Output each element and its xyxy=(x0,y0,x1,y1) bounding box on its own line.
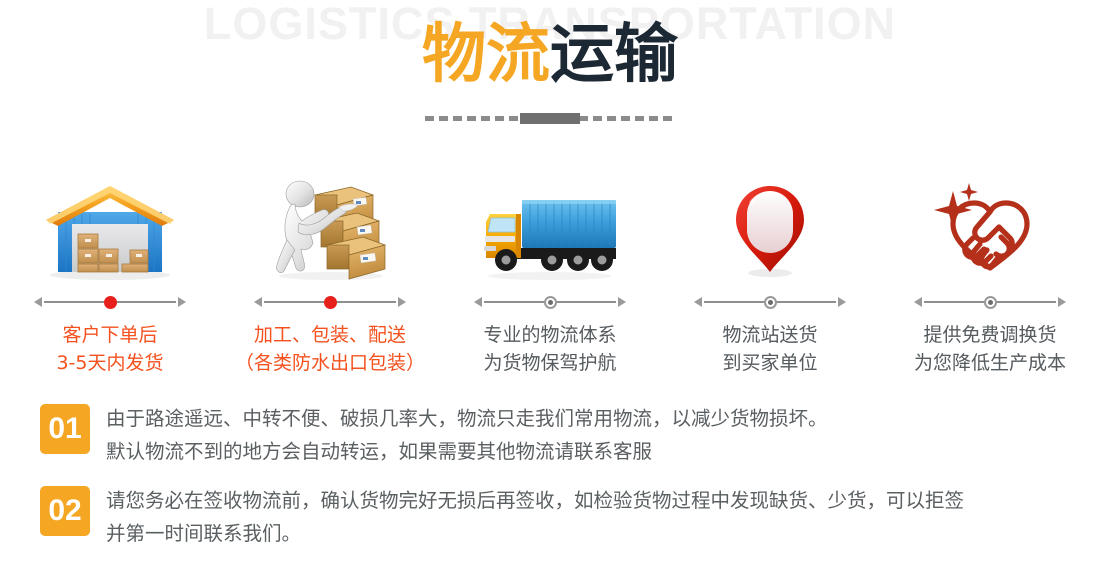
slider-knob xyxy=(104,296,117,309)
feature-caption-line: 加工、包装、配送 xyxy=(235,322,425,350)
note-body: 请您务必在签收物流前，确认货物完好无损后再签收，如检验货物过程中发现缺货、少货，… xyxy=(106,486,964,552)
page-title-highlight: 物流 xyxy=(422,18,550,90)
step-slider xyxy=(34,294,186,310)
feature-item-warehouse[interactable]: 客户下单后 3-5天内发货 xyxy=(0,175,220,377)
divider-block xyxy=(520,113,580,124)
step-slider xyxy=(254,294,406,310)
notes-section: 01 由于路途遥远、中转不便、破损几率大，物流只走我们常用物流，以减少货物损坏。… xyxy=(40,404,1070,569)
note-item: 02 请您务必在签收物流前，确认货物完好无损后再签收，如检验货物过程中发现缺货、… xyxy=(40,486,1070,552)
slider-arrow-right xyxy=(838,297,846,307)
slider-arrow-left xyxy=(914,297,922,307)
feature-caption: 物流站送货 到买家单位 xyxy=(722,322,817,377)
note-line: 默认物流不到的地方会自动转运，如果需要其他物流请联系客服 xyxy=(106,438,828,466)
warehouse-icon xyxy=(44,175,176,280)
slider-knob xyxy=(984,296,997,309)
slider-arrow-left xyxy=(474,297,482,307)
feature-caption: 客户下单后 3-5天内发货 xyxy=(56,322,163,377)
note-item: 01 由于路途遥远、中转不便、破损几率大，物流只走我们常用物流，以减少货物损坏。… xyxy=(40,404,1070,470)
page-title: 物流运输 xyxy=(0,22,1100,86)
title-divider xyxy=(0,113,1100,123)
feature-caption-line: 客户下单后 xyxy=(56,322,163,350)
note-body: 由于路途遥远、中转不便、破损几率大，物流只走我们常用物流，以减少货物损坏。 默认… xyxy=(106,404,828,470)
feature-caption-line: 物流站送货 xyxy=(722,322,817,350)
page-title-rest: 运输 xyxy=(550,18,678,90)
feature-item-delivery[interactable]: 物流站送货 到买家单位 xyxy=(660,175,880,377)
worker-pushing-boxes-icon xyxy=(265,175,395,280)
feature-caption-line: 为您降低生产成本 xyxy=(914,350,1066,378)
map-pin-icon xyxy=(727,175,813,280)
slider-arrow-right xyxy=(618,297,626,307)
feature-item-exchange[interactable]: 提供免费调换货 为您降低生产成本 xyxy=(880,175,1100,377)
feature-caption-line: 到买家单位 xyxy=(722,350,817,378)
step-slider xyxy=(474,294,626,310)
step-slider xyxy=(914,294,1066,310)
feature-caption-line: 3-5天内发货 xyxy=(56,350,163,378)
container-truck-icon xyxy=(480,175,620,280)
feature-item-transport[interactable]: 专业的物流体系 为货物保驾护航 xyxy=(440,175,660,377)
feature-caption: 提供免费调换货 为您降低生产成本 xyxy=(914,322,1066,377)
note-line: 并第一时间联系我们。 xyxy=(106,520,964,548)
feature-item-packaging[interactable]: 加工、包装、配送 （各类防水出口包装） xyxy=(220,175,440,377)
feature-caption-line: 为货物保驾护航 xyxy=(483,350,616,378)
handshake-heart-icon xyxy=(931,175,1049,280)
slider-arrow-left xyxy=(34,297,42,307)
slider-knob xyxy=(544,296,557,309)
note-line: 请您务必在签收物流前，确认货物完好无损后再签收，如检验货物过程中发现缺货、少货，… xyxy=(106,487,964,515)
step-slider xyxy=(694,294,846,310)
feature-caption: 专业的物流体系 为货物保驾护航 xyxy=(483,322,616,377)
feature-caption-line: 专业的物流体系 xyxy=(483,322,616,350)
page-header: LOGISTICS TRANSPORTATION 物流运输 xyxy=(0,0,1100,140)
slider-knob xyxy=(324,296,337,309)
logistics-transportation-banner: LOGISTICS TRANSPORTATION 物流运输 xyxy=(0,0,1100,567)
note-number-badge: 01 xyxy=(40,404,90,454)
feature-caption: 加工、包装、配送 （各类防水出口包装） xyxy=(235,322,425,377)
slider-arrow-left xyxy=(694,297,702,307)
note-number-badge: 02 xyxy=(40,486,90,536)
slider-arrow-right xyxy=(178,297,186,307)
feature-caption-line: 提供免费调换货 xyxy=(914,322,1066,350)
slider-arrow-right xyxy=(398,297,406,307)
slider-knob xyxy=(764,296,777,309)
feature-row: 客户下单后 3-5天内发货 xyxy=(0,175,1100,377)
note-line: 由于路途遥远、中转不便、破损几率大，物流只走我们常用物流，以减少货物损坏。 xyxy=(106,405,828,433)
slider-arrow-right xyxy=(1058,297,1066,307)
feature-caption-line: （各类防水出口包装） xyxy=(235,350,425,378)
slider-arrow-left xyxy=(254,297,262,307)
